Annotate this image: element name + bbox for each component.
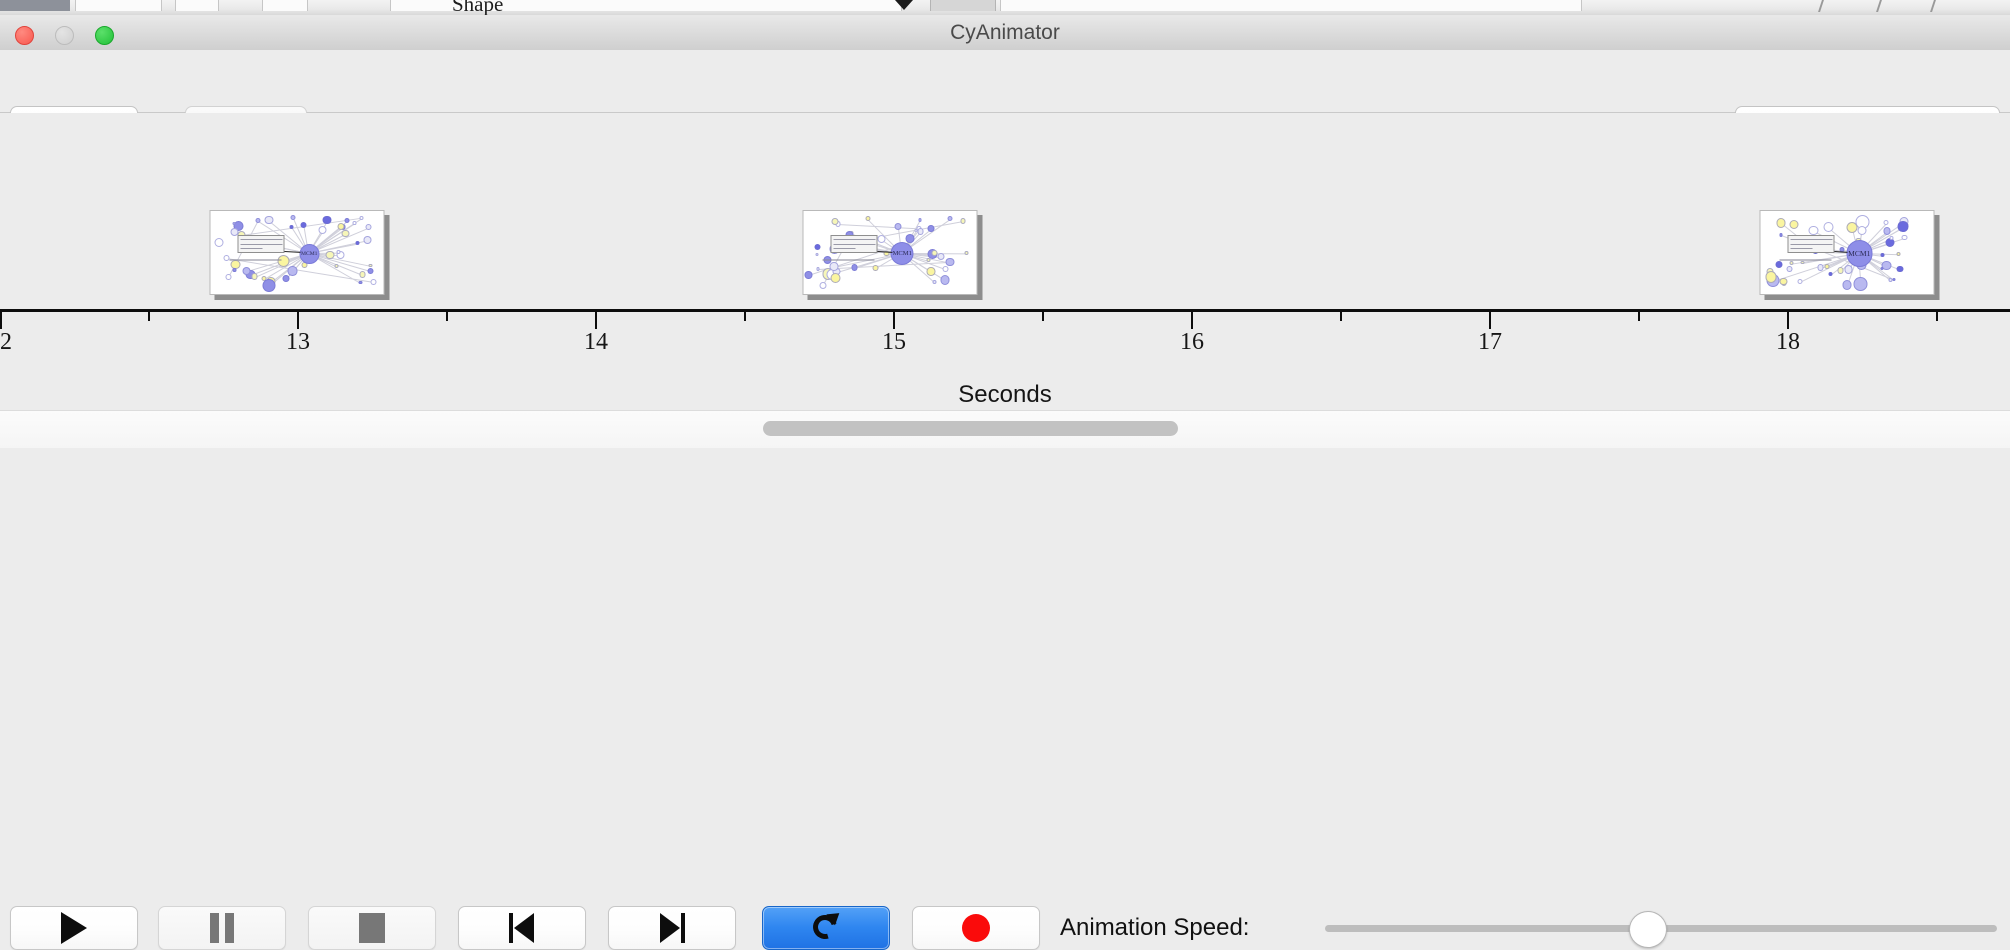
annotation-text-line [240,244,282,245]
network-node [256,218,261,223]
network-node [895,223,902,230]
axis-tick-minor [1936,312,1938,321]
network-node [948,216,953,221]
network-node [1897,252,1901,256]
network-node [1765,271,1776,282]
network-node [814,244,820,250]
network-node [1902,235,1908,241]
network-node [283,275,290,282]
play-icon [61,912,87,944]
axis-tick-major [297,312,299,329]
network-hub-node: MCM1 [1846,240,1872,266]
network-node [214,238,223,247]
annotation-text-line [833,244,875,245]
timeline-horizontal-scrollbar[interactable] [0,410,2010,449]
background-window-tab [930,0,996,11]
background-window-label: Shape [452,0,503,15]
network-node [961,218,966,223]
axis-tick-minor [744,312,746,321]
network-node [242,267,250,275]
network-node [359,216,363,220]
network-node [369,264,373,268]
network-node [1829,272,1833,276]
axis-tick-label: 16 [1180,329,1204,356]
step-back-button[interactable] [458,906,586,950]
network-node [1837,267,1843,273]
network-edge [838,224,919,229]
network-node [918,218,922,222]
network-node [926,258,930,262]
skip-forward-icon [659,913,685,943]
network-node [370,279,376,285]
annotation-text-line [240,239,282,240]
play-button[interactable] [10,906,138,950]
network-caption [230,259,282,261]
background-window-titlebar [0,0,70,11]
axis-tick-label: 14 [584,329,608,356]
network-node [344,218,349,223]
window-title: CyAnimator [0,15,2010,50]
network-node [965,251,969,255]
axis-tick-major [1191,312,1193,329]
record-icon [962,914,990,942]
network-node [830,262,838,270]
network-node [917,228,924,235]
network-node [301,222,307,228]
background-window-divider [1930,0,1936,12]
network-thumbnail: MCM1 [803,210,978,295]
network-node [927,267,936,276]
network-node [940,275,950,285]
annotation-text-line [833,239,875,240]
network-node [933,280,937,284]
step-forward-button[interactable] [608,906,736,950]
network-caption [823,259,875,261]
record-button[interactable] [912,906,1040,950]
annotation-text-line [1790,244,1832,245]
network-node [353,221,357,225]
background-window-divider [1818,0,1824,12]
background-window-divider [1876,0,1882,12]
network-node [805,271,813,279]
axis-title: Seconds [0,381,2010,409]
axis-tick-minor [148,312,150,321]
network-node [928,225,935,232]
network-node [342,230,350,238]
cyanimator-window: Shape CyAnimator Clear All Frames [0,0,2010,510]
bottom-toolbar: Animation Speed: [0,448,2010,510]
network-node [262,279,275,292]
network-node [1880,267,1884,271]
network-node [1790,261,1794,265]
axis-tick-major [595,312,597,329]
network-node [291,215,296,220]
axis-tick-label: 17 [1478,329,1502,356]
axis-tick-minor [1042,312,1044,321]
annotation-text-line [1790,239,1832,240]
network-node [367,268,373,274]
annotation-text-line [1790,248,1812,249]
annotation-text-line [240,248,262,249]
network-node [943,266,949,272]
loop-button[interactable] [762,906,890,950]
network-node [938,253,945,260]
network-node [1776,261,1783,268]
background-window-segment [262,0,308,11]
network-node [290,225,294,229]
network-node [288,266,297,275]
animation-speed-label: Animation Speed: [1060,906,1249,950]
animation-speed-slider[interactable] [1325,906,1997,950]
stop-button[interactable] [308,906,436,950]
network-node [319,226,327,234]
network-node [1857,226,1866,235]
background-window-segment [75,0,162,11]
network-annotation-box [830,235,877,253]
axis-tick-major [1489,312,1491,329]
network-node [832,218,839,225]
network-node [1797,279,1802,284]
top-toolbar: Clear All Frames [0,50,2010,113]
network-node [851,264,857,270]
network-node [1881,253,1885,257]
network-node [1777,218,1786,227]
background-window-segment [175,0,219,11]
network-node [359,271,366,278]
network-node [225,274,231,280]
network-annotation-box [237,235,284,253]
axis-tick-label: 13 [286,329,310,356]
network-node [819,282,826,289]
loop-icon [811,912,841,944]
network-thumbnail: MCM1 [1760,210,1935,295]
network-caption [1780,259,1832,261]
axis-tick-minor [446,312,448,321]
skip-back-icon [509,913,535,943]
scrollbar-thumb[interactable] [763,421,1178,436]
network-node [335,264,339,268]
network-node [1897,266,1904,273]
axis-tick-label: 2 [0,329,12,356]
network-node [251,273,258,280]
axis-tick-minor [1340,312,1342,321]
network-node [946,258,954,266]
annotation-pointer [284,251,300,253]
timeline-frame-thumbnail[interactable]: MCM1 [210,210,385,295]
network-node [326,251,335,260]
stop-icon [359,913,385,943]
network-annotation-box [1787,235,1834,253]
network-node [1823,222,1833,232]
pause-button[interactable] [158,906,286,950]
timeline-axis [0,309,2010,312]
title-bar: CyAnimator [0,15,2010,51]
axis-tick-label: 18 [1776,329,1800,356]
network-node [1842,280,1851,289]
network-node [356,241,360,245]
axis-tick-major [893,312,895,329]
network-node [363,236,371,244]
slider-knob[interactable] [1629,911,1667,948]
network-node [1846,222,1858,234]
network-node [877,235,885,243]
timeline-frame-thumbnail[interactable]: MCM1 [1760,210,1935,295]
network-node [1801,261,1804,264]
network-node [1789,220,1798,229]
network-thumbnail: MCM1 [210,210,385,295]
timeline-frame-thumbnail[interactable]: MCM1 [803,210,978,295]
axis-tick-major [1787,312,1789,329]
network-node [1854,277,1868,291]
network-node [1883,220,1888,225]
axis-tick-label: 15 [882,329,906,356]
timeline-panel[interactable]: 2 13 14 15 16 17 18 Seconds MCM1 MCM1 MC… [0,113,2010,410]
network-node [232,222,235,225]
network-node [1898,221,1909,232]
background-window-segment [1000,0,1582,11]
network-hub-node: MCM1 [299,244,319,264]
background-window-strip: Shape [0,0,2010,15]
network-node [359,281,363,285]
network-node [815,253,818,256]
pause-icon [209,913,235,943]
axis-tick-major [0,312,2,329]
network-node [1824,264,1829,269]
axis-tick-minor [1638,312,1640,321]
network-node [366,224,372,230]
background-window-marker-icon [895,0,913,10]
network-node [233,268,237,272]
network-node [264,216,273,225]
annotation-text-line [833,248,855,249]
network-node [872,265,878,271]
network-node [1787,266,1793,272]
network-node [905,234,914,243]
network-node [831,273,841,283]
network-node [1892,278,1895,281]
